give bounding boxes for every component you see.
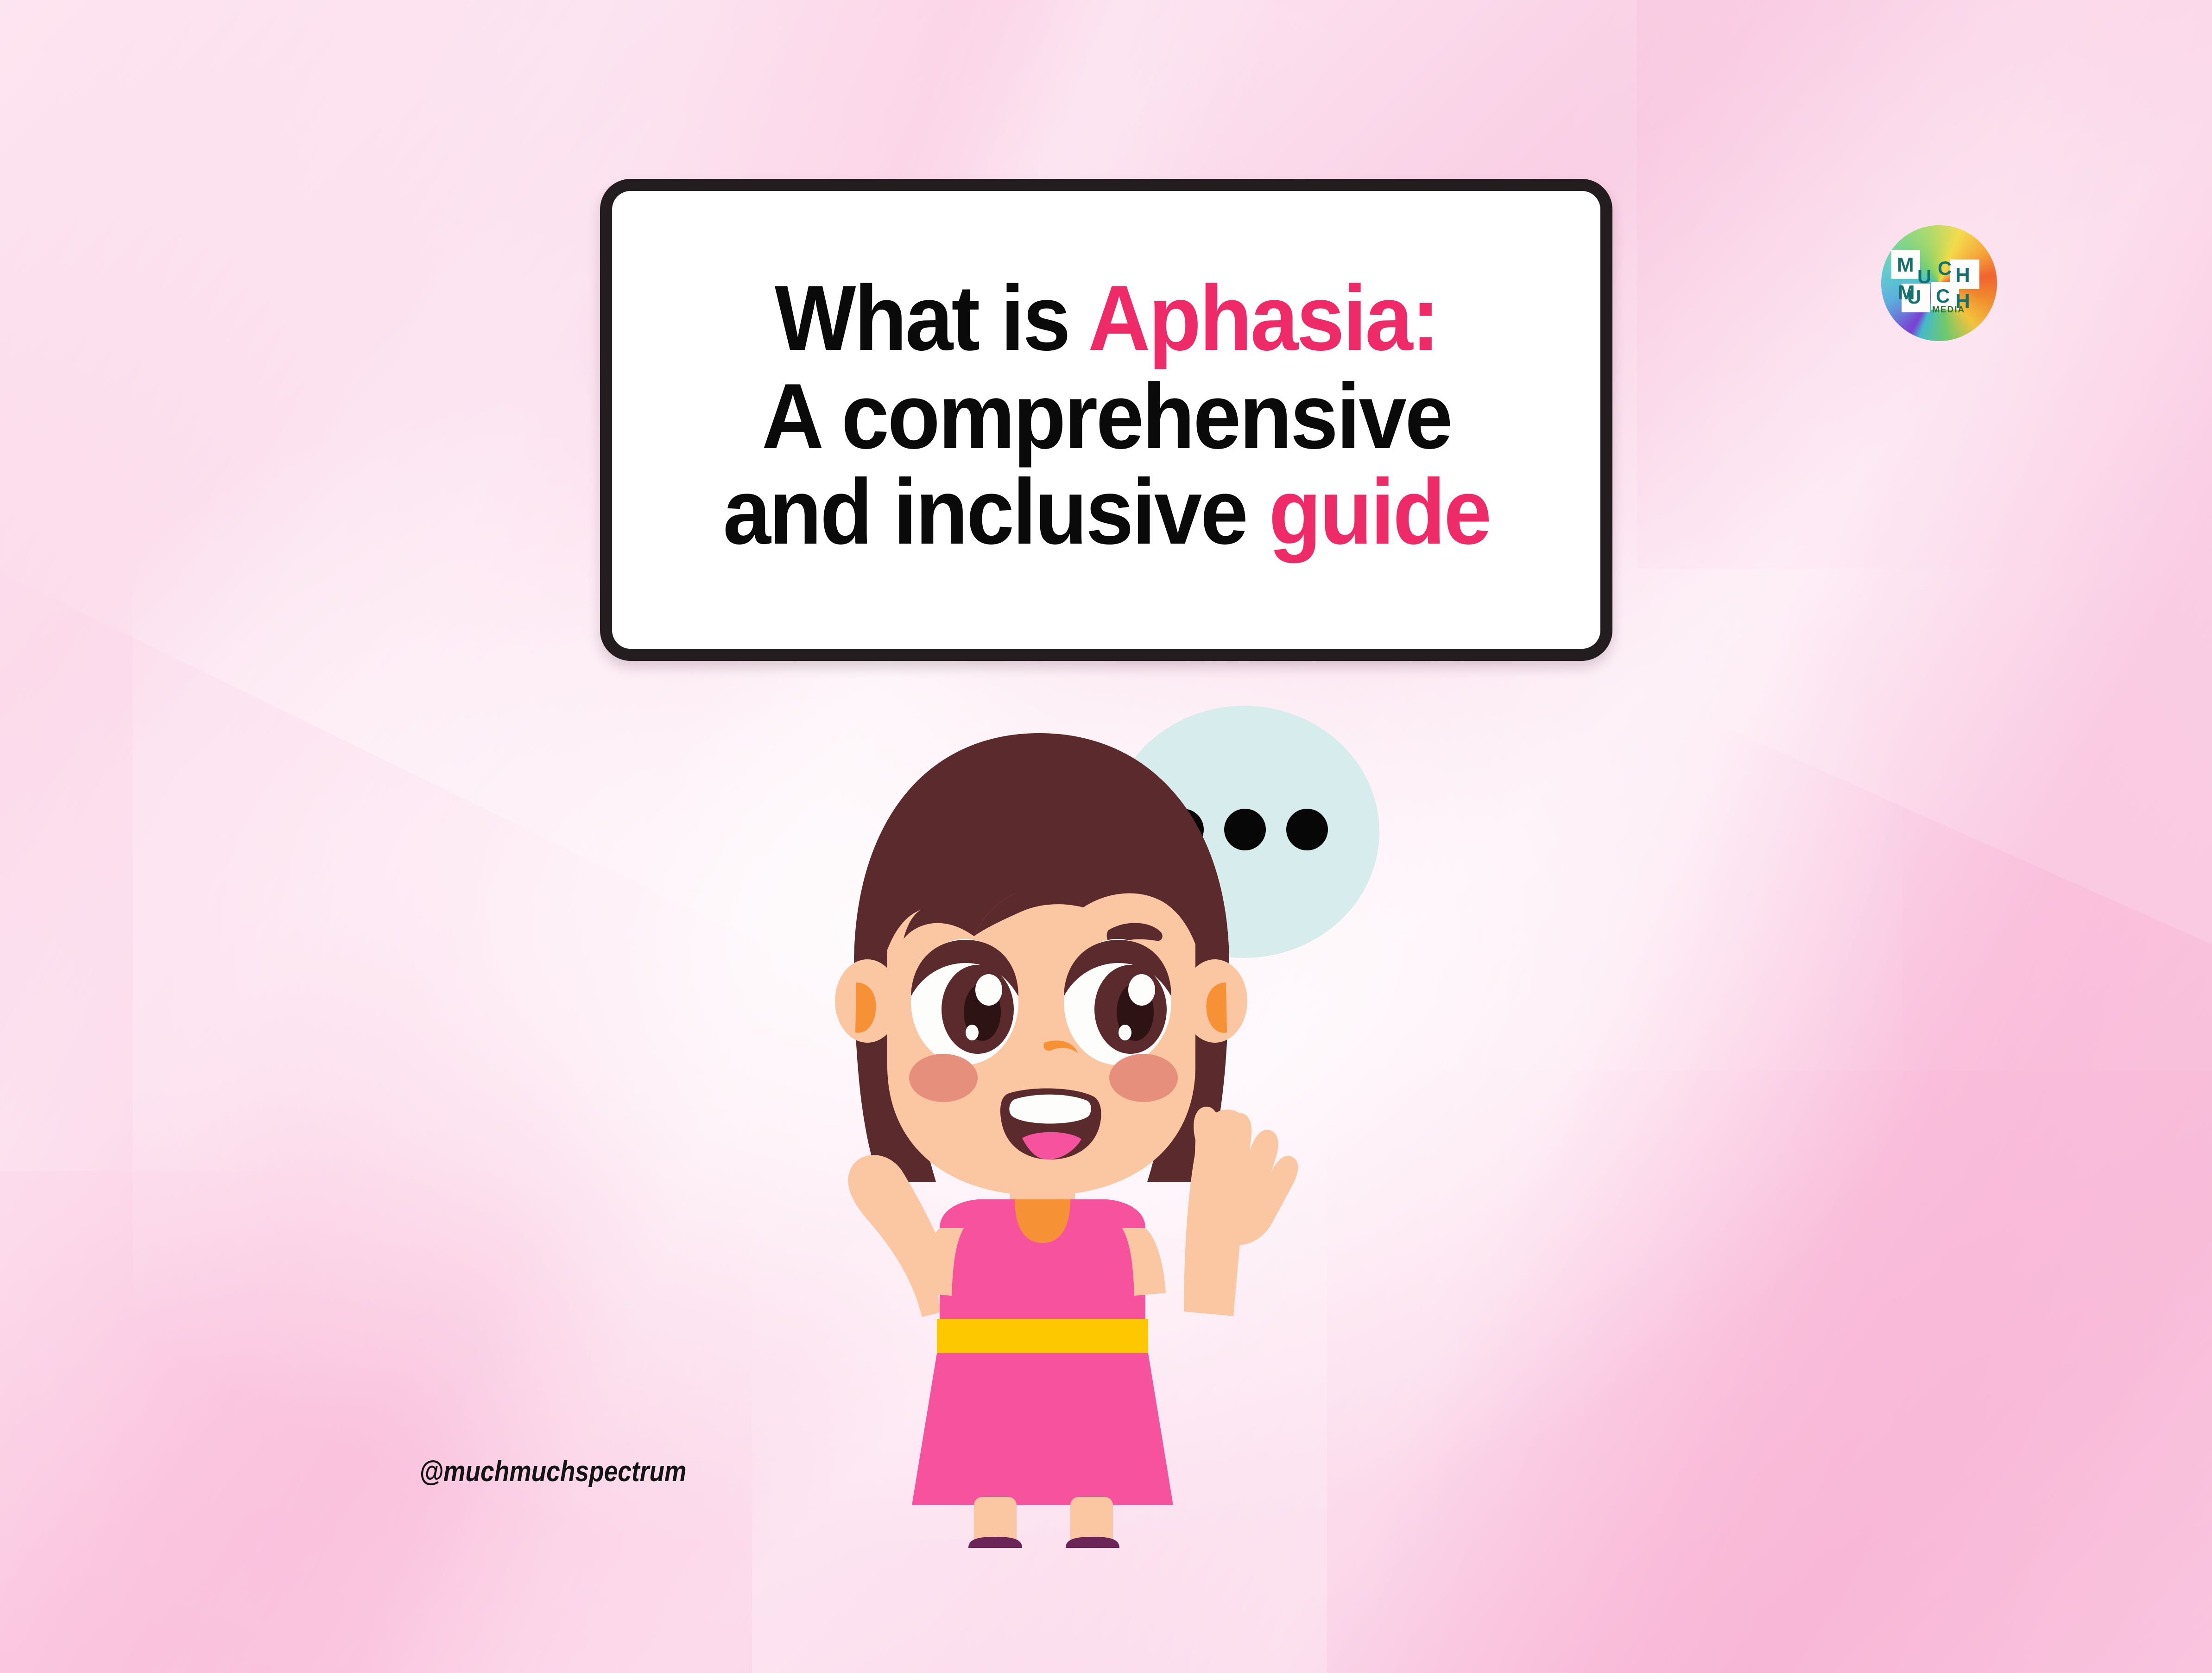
logo-subtitle: MEDIA <box>1932 305 1965 315</box>
eye-right <box>1064 939 1171 1065</box>
logo-letter-h1: H <box>1955 265 1970 285</box>
right-arm-waving <box>1184 1107 1298 1316</box>
title-line-3-black: and inclusive <box>723 460 1269 564</box>
title-line-2-black: A comprehensive <box>762 365 1451 468</box>
logo-letter-c2: C <box>1936 286 1950 306</box>
account-handle: @muchmuchspectrum <box>419 1455 686 1488</box>
logo-letter-c1: C <box>1938 259 1952 278</box>
title-card: What is Aphasia: A comprehensive and inc… <box>600 179 1612 661</box>
cheek-left <box>909 1054 978 1102</box>
logo-letter-m1: M <box>1897 255 1914 275</box>
girl-illustration <box>765 677 1436 1548</box>
much-much-media-logo[interactable]: M U C H M U C H MEDIA <box>1881 225 1997 341</box>
logo-letter-u1: U <box>1917 267 1931 286</box>
title-line-3-accent: guide <box>1269 460 1490 564</box>
eye-left <box>911 939 1018 1065</box>
title-line-2: A comprehensive <box>762 369 1451 464</box>
title-line-1-black: What is <box>774 266 1087 370</box>
title-line-1-accent: Aphasia: <box>1088 266 1438 370</box>
cheek-right <box>1109 1054 1178 1102</box>
title-line-3: and inclusive guide <box>723 464 1490 560</box>
logo-letter-u2: U <box>1907 287 1921 307</box>
title-line-1: What is Aphasia: <box>774 271 1438 366</box>
